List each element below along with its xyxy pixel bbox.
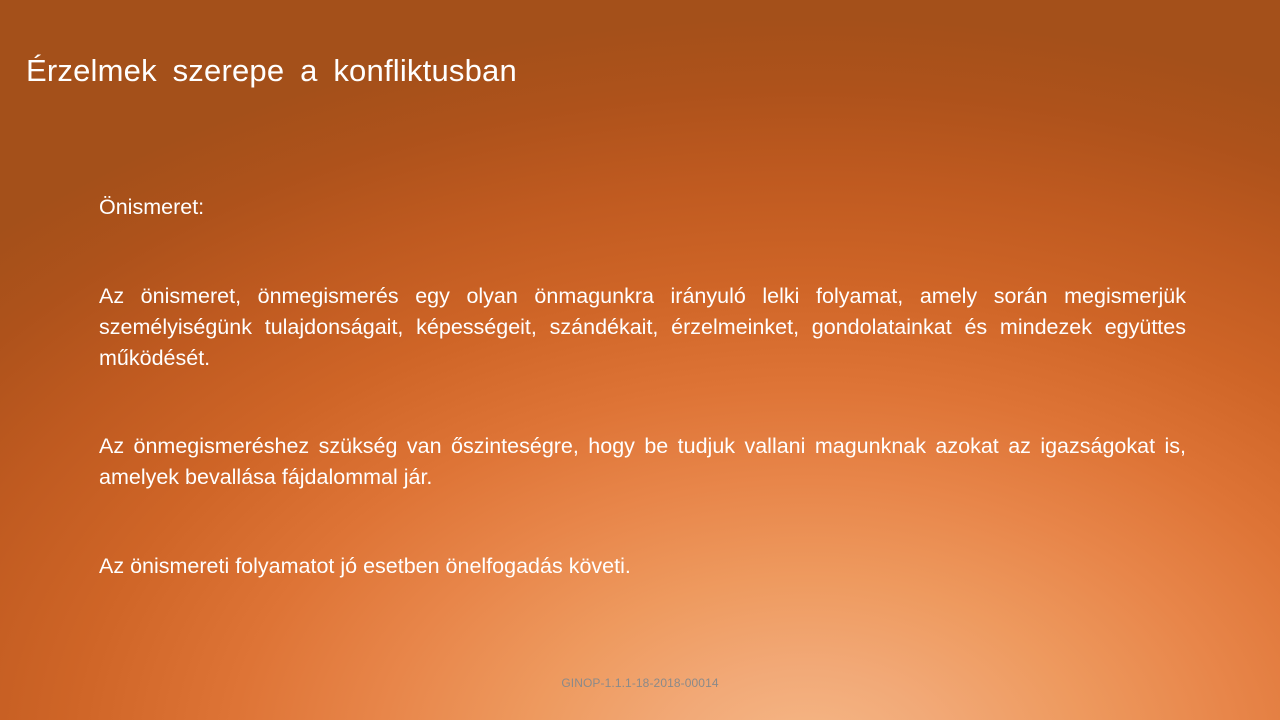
slide-body-content: Önismeret: Az önismeret, önmegismerés eg…: [99, 192, 1186, 582]
body-paragraph-3: Az önismereti folyamatot jó esetben önel…: [99, 551, 1186, 582]
body-paragraph-1: Az önismeret, önmegismerés egy olyan önm…: [99, 281, 1186, 374]
body-heading: Önismeret:: [99, 192, 1186, 223]
body-paragraph-2: Az önmegismeréshez szükség van őszintesé…: [99, 431, 1186, 493]
footer-project-code: GINOP-1.1.1-18-2018-00014: [0, 676, 1280, 690]
slide-title: Érzelmek szerepe a konfliktusban: [26, 52, 1226, 89]
presentation-slide: Érzelmek szerepe a konfliktusban Önismer…: [0, 0, 1280, 720]
